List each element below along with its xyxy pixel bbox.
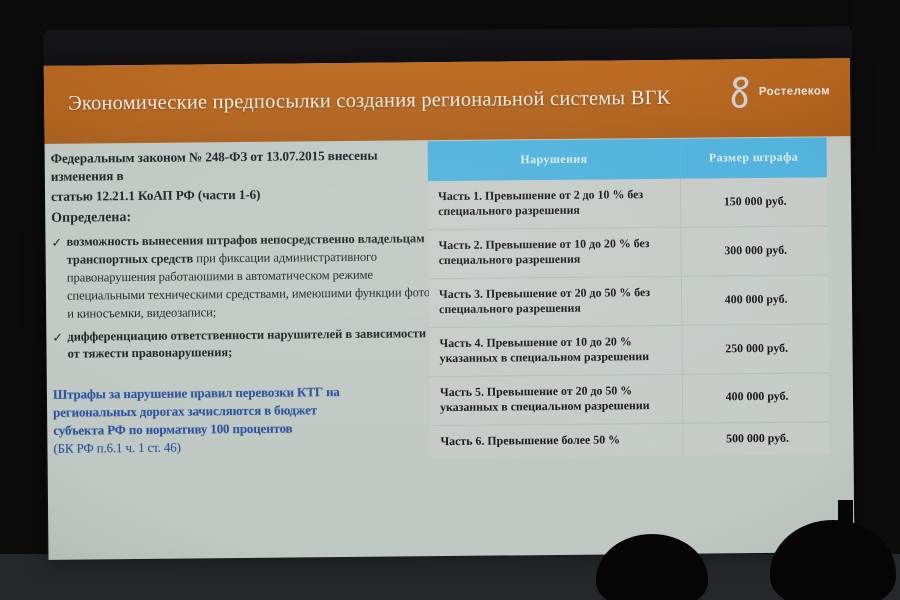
table-row: Часть 3. Превышение от 20 до 50 % без сп… [429, 275, 828, 328]
rostelecom-ear-logo-icon [727, 75, 754, 109]
bullet-item: ✓ дифференциацию ответственности нарушит… [52, 325, 440, 364]
room-wall-top [0, 0, 900, 30]
fines-table: Нарушения Размер штрафа Часть 1. Превыше… [428, 137, 830, 458]
checkmark-icon: ✓ [52, 328, 63, 346]
left-text-column: Федеральным законом № 248-ФЗ от 13.07.20… [51, 146, 442, 458]
table-row: Часть 2. Превышение от 10 до 20 % без сп… [428, 226, 827, 279]
table-row: Часть 4. Превышение от 10 до 20 % указан… [429, 324, 828, 377]
table-row: Часть 5. Превышение от 20 до 50 % указан… [430, 373, 829, 426]
cell-fine: 400 000 руб. [682, 373, 829, 423]
rostelecom-wordmark: Ростелеком [759, 85, 830, 98]
cell-fine: 150 000 руб. [681, 177, 828, 227]
column-header-violations: Нарушения [428, 139, 681, 181]
bullet-item: ✓ возможность вынесения штрафов непосред… [51, 231, 440, 324]
projection-screen: Экономические предпосылки создания регио… [43, 26, 854, 562]
cell-violation: Часть 1. Превышение от 2 до 10 % без спе… [428, 179, 681, 230]
blue-note-reference: (БК РФ п.6.1 ч. 1 ст. 46) [53, 436, 441, 458]
slide: Экономические предпосылки создания регио… [44, 58, 855, 560]
cell-violation: Часть 2. Превышение от 10 до 20 % без сп… [428, 227, 681, 278]
cell-violation: Часть 6. Превышение более 50 % [430, 423, 683, 458]
slide-header: Экономические предпосылки создания регио… [44, 58, 851, 144]
table-row: Часть 1. Превышение от 2 до 10 % без спе… [428, 177, 827, 229]
cell-fine: 400 000 руб. [682, 275, 829, 325]
defined-heading: Определена: [51, 208, 439, 228]
cell-fine: 250 000 руб. [682, 324, 829, 374]
cell-violation: Часть 3. Превышение от 20 до 50 % без сп… [429, 276, 682, 327]
slide-title: Экономические предпосылки создания регио… [68, 85, 671, 118]
room-wall-right [852, 0, 900, 600]
cell-violation: Часть 5. Превышение от 20 до 50 % указан… [430, 374, 683, 425]
checkmark-icon: ✓ [51, 234, 62, 252]
screen-support-post [838, 500, 853, 586]
lead-paragraph-line-1: Федеральным законом № 248-ФЗ от 13.07.20… [51, 146, 439, 187]
table-header-row: Нарушения Размер штрафа [428, 137, 827, 181]
column-header-fine-amount: Размер штрафа [680, 137, 827, 178]
cell-fine: 500 000 руб. [683, 422, 830, 456]
bullet-strong-text: дифференциацию ответственности нарушител… [67, 326, 426, 361]
slide-body: Федеральным законом № 248-ФЗ от 13.07.20… [45, 136, 855, 570]
cell-fine: 300 000 руб. [681, 226, 828, 276]
projected-slide-photo: Экономические предпосылки создания регио… [0, 0, 900, 600]
table-row: Часть 6. Превышение более 50 % 500 000 р… [430, 422, 829, 459]
rostelecom-logo: Ростелеком [727, 74, 831, 109]
room-wall-left [0, 0, 46, 600]
lead-paragraph-line-2: статью 12.21.1 КоАП РФ (части 1-6) [51, 184, 439, 206]
cell-violation: Часть 4. Превышение от 10 до 20 % указан… [429, 325, 682, 376]
blue-highlight-note: Штрафы за нарушение правил перевозки КТГ… [53, 382, 442, 457]
